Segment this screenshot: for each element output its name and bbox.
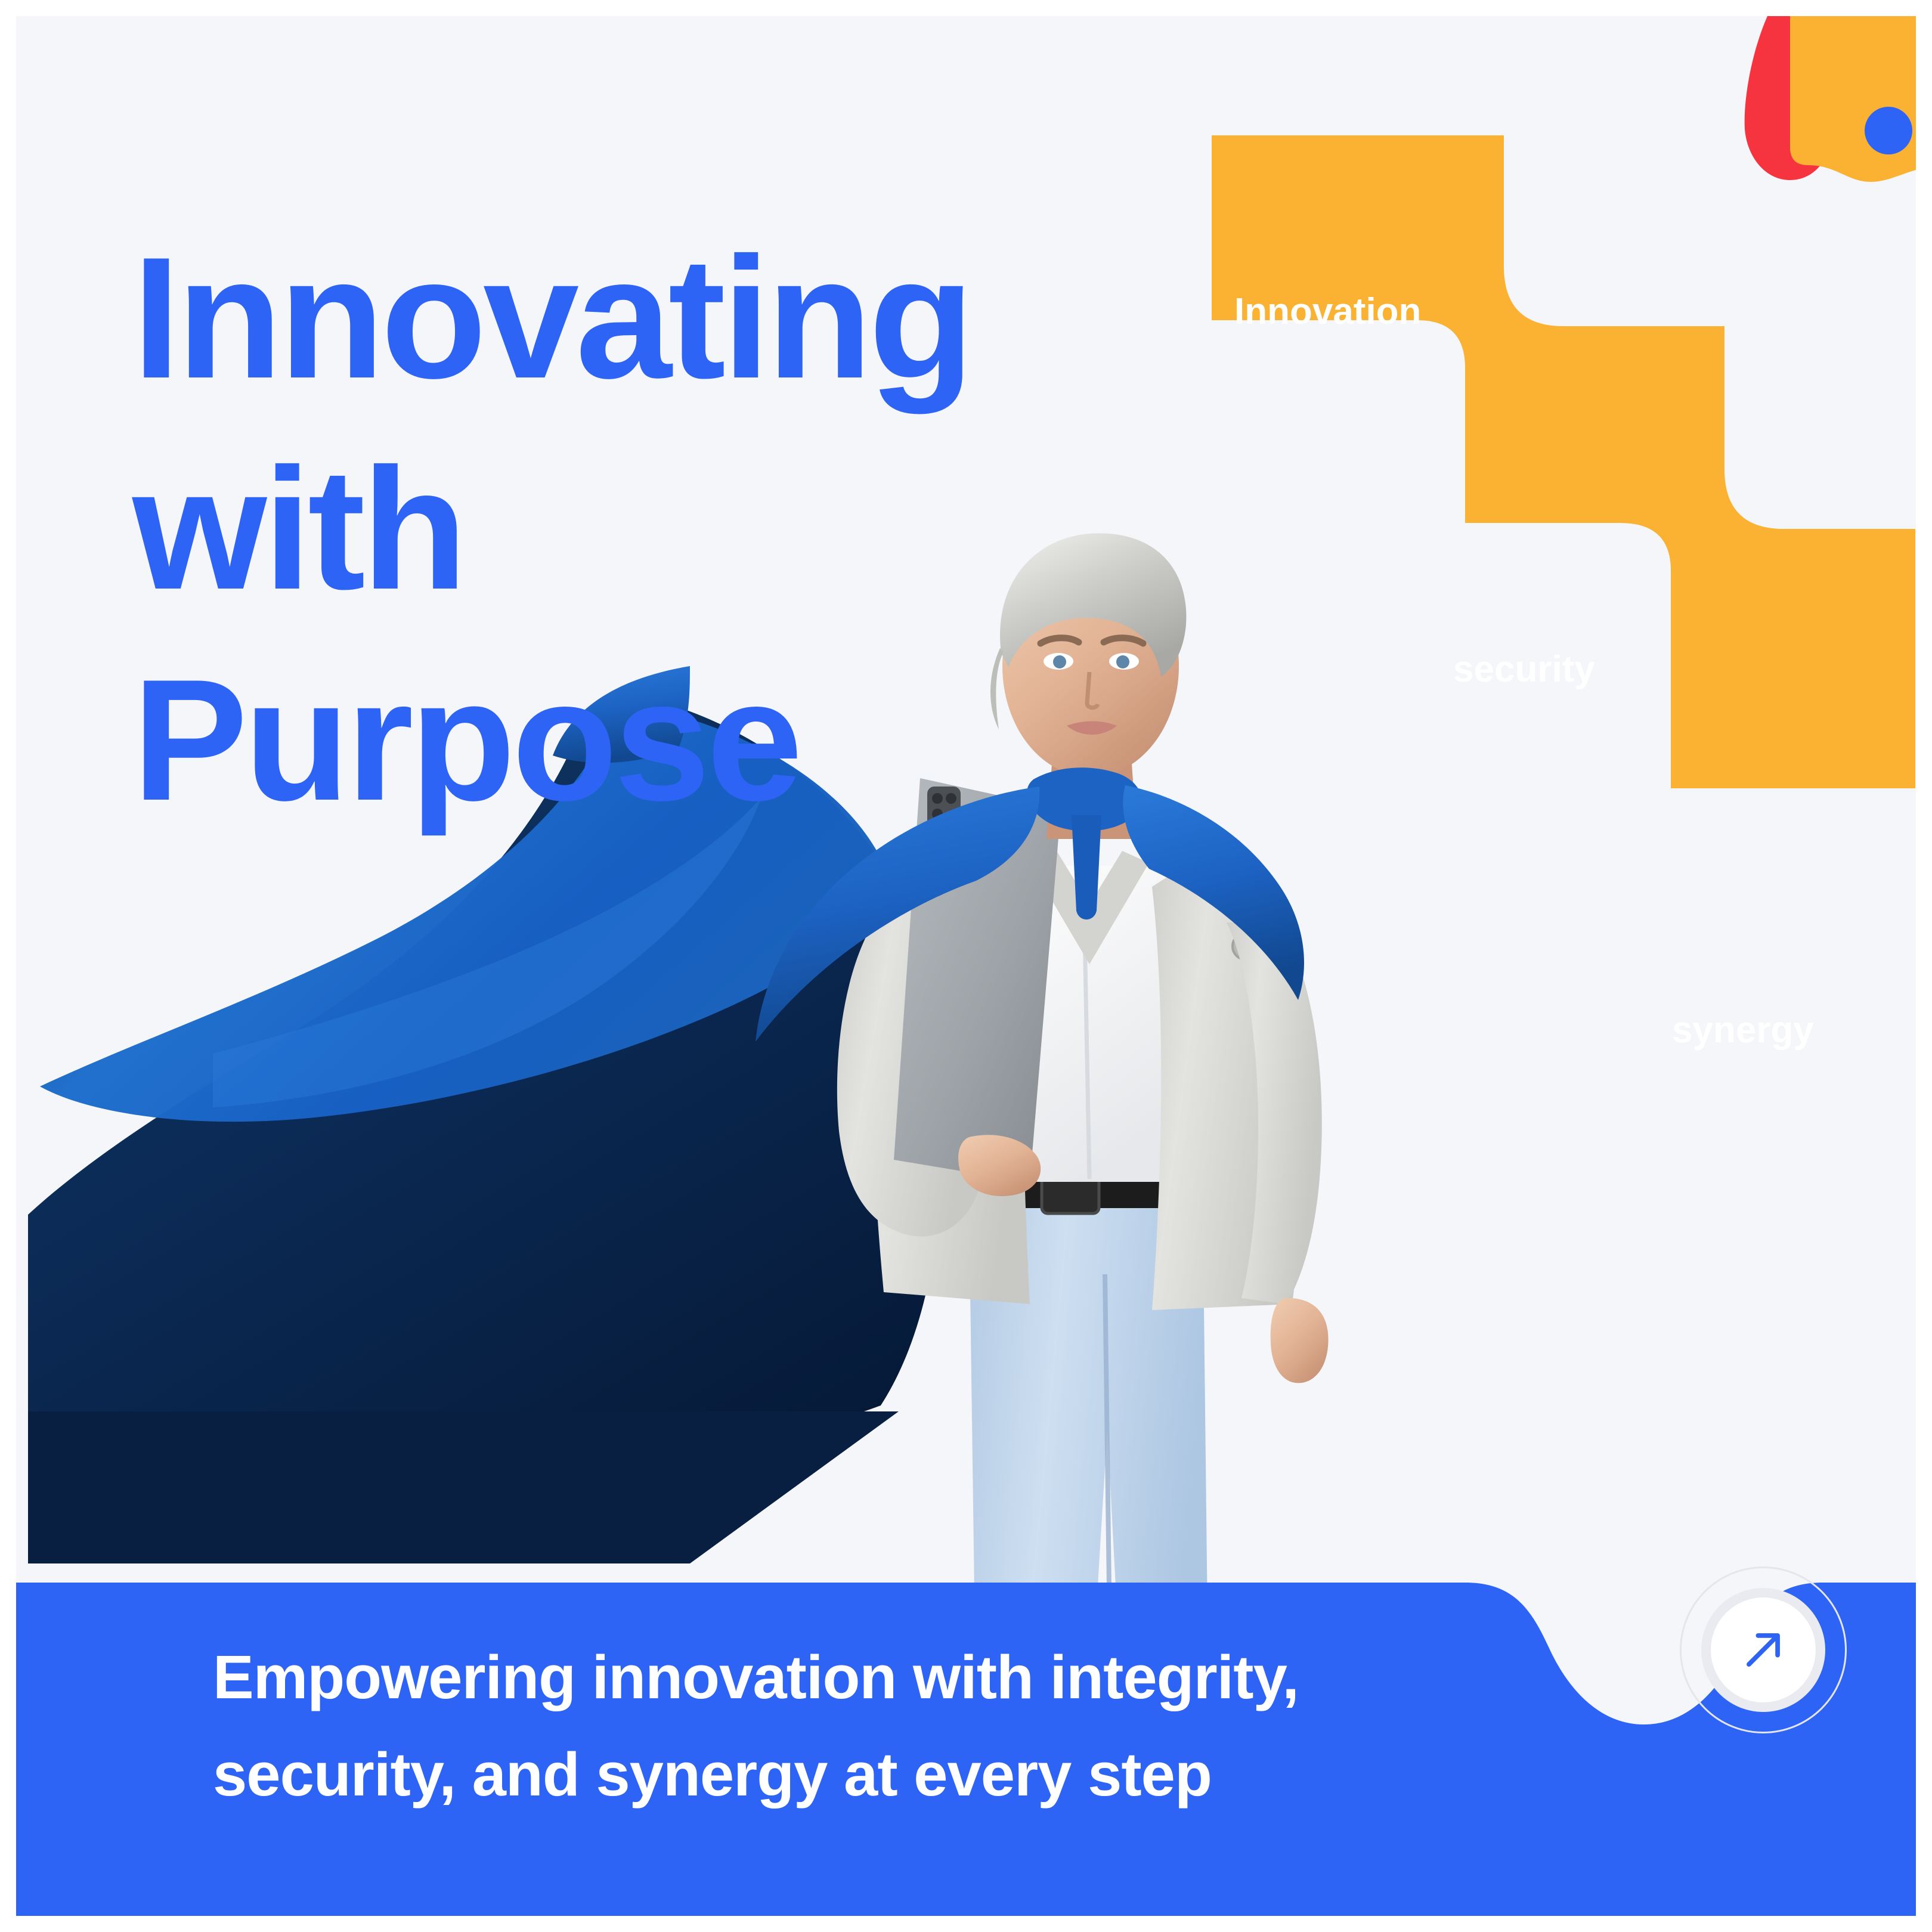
brand-logo-mark: [1674, 16, 1916, 213]
arrow-up-right-icon: [1738, 1624, 1789, 1676]
page-title: Innovating with Purpose: [132, 213, 1146, 846]
cta-core[interactable]: [1711, 1597, 1816, 1702]
poster-card: Innovation security synergy Innovating w…: [16, 16, 1916, 1916]
step-label-synergy: synergy: [1672, 1009, 1814, 1051]
step-label-innovation: Innovation: [1234, 290, 1421, 333]
step-label-security: security: [1453, 648, 1595, 691]
tagline-text: Empowering innovation with integrity, se…: [213, 1629, 1435, 1823]
poster-canvas: Innovation security synergy Innovating w…: [0, 0, 1932, 1932]
cta-arrow-button[interactable]: [1680, 1566, 1847, 1733]
